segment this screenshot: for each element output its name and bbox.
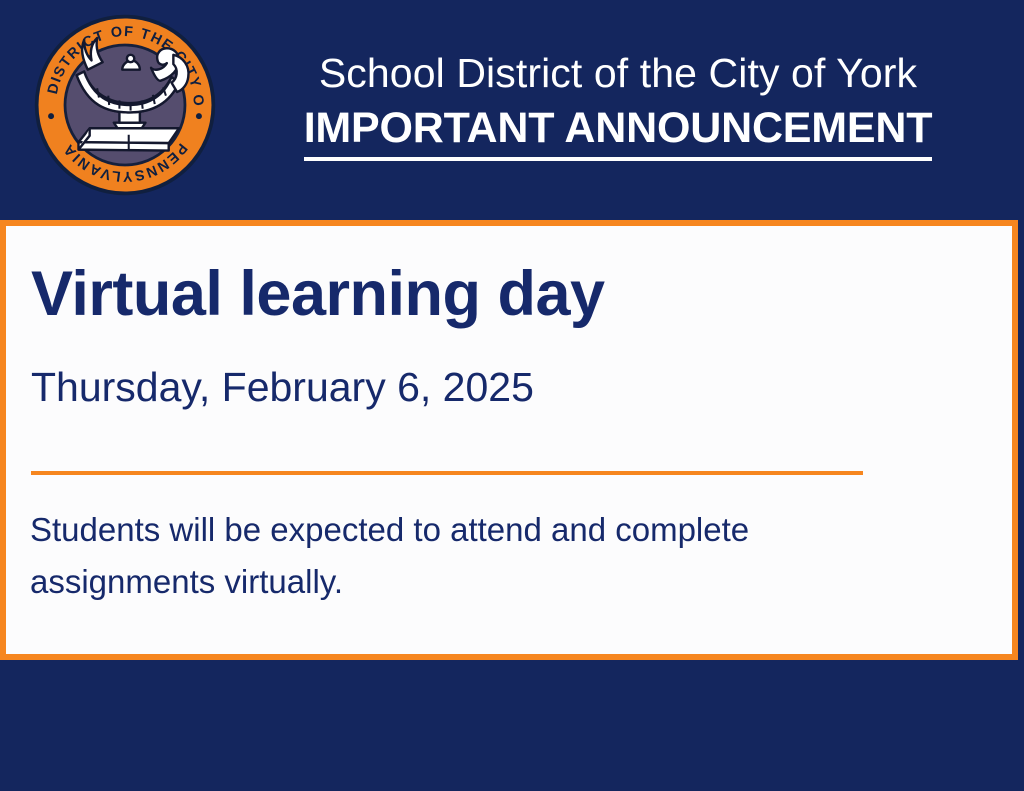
divider (31, 471, 863, 475)
school-district-seal-icon: SCHOOL DISTRICT OF THE CITY OF YORK PENN… (32, 12, 218, 198)
footer-band (0, 660, 1024, 791)
lamp-of-knowledge-emblem (79, 128, 179, 150)
page-title: Virtual learning day (31, 258, 605, 330)
district-name: School District of the City of York (248, 46, 988, 100)
announcement-card: Virtual learning day Thursday, February … (0, 220, 1018, 660)
announcement-label: IMPORTANT ANNOUNCEMENT (304, 100, 933, 161)
header-band: SCHOOL DISTRICT OF THE CITY OF YORK PENN… (0, 0, 1024, 218)
announcement-graphic: SCHOOL DISTRICT OF THE CITY OF YORK PENN… (0, 0, 1024, 791)
event-date: Thursday, February 6, 2025 (31, 362, 534, 412)
body-text: Students will be expected to attend and … (30, 504, 930, 608)
header-text-block: School District of the City of York IMPO… (248, 46, 988, 161)
